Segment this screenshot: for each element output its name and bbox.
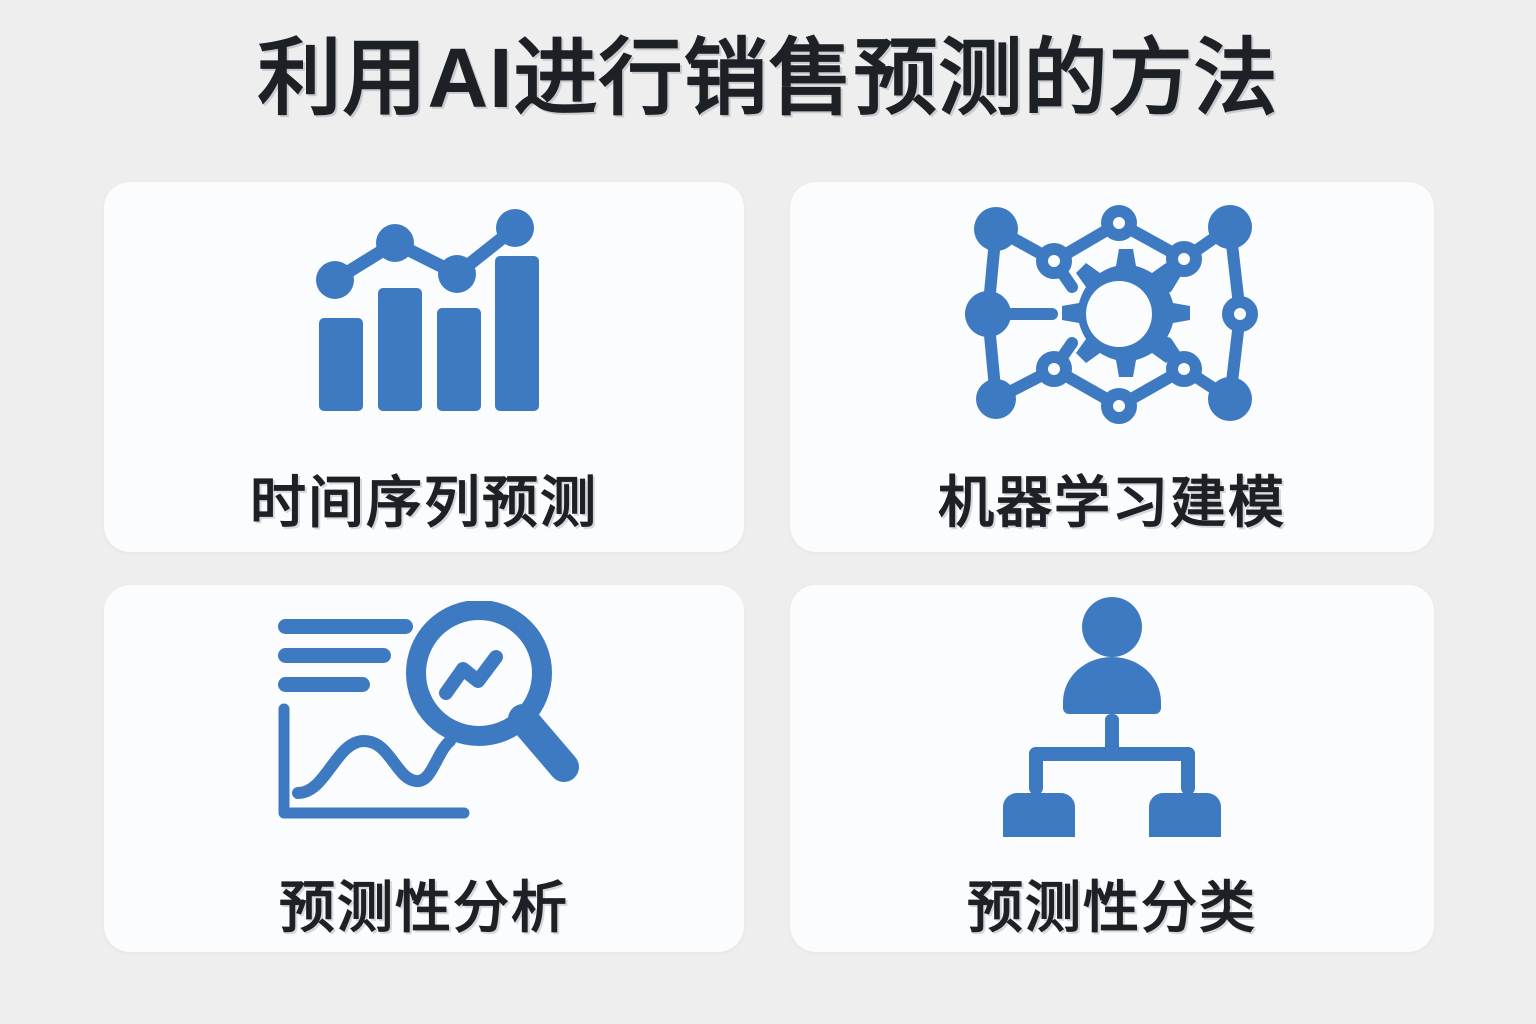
page-title: 利用AI进行销售预测的方法 xyxy=(0,30,1536,127)
card-machine-learning-modeling[interactable]: 机器学习建模 xyxy=(790,182,1434,552)
card-label-time-series-forecasting: 时间序列预测 xyxy=(250,458,598,539)
neural-network-gear-icon xyxy=(790,196,1434,432)
card-predictive-analytics[interactable]: 预测性分析 xyxy=(104,585,744,952)
card-grid: 时间序列预测 xyxy=(104,182,1434,952)
card-label-predictive-analytics: 预测性分析 xyxy=(279,863,569,944)
infographic-page: 利用AI进行销售预测的方法 xyxy=(0,0,1536,1024)
magnifier-chart-icon xyxy=(104,593,744,841)
org-hierarchy-icon xyxy=(790,593,1434,841)
card-time-series-forecasting[interactable]: 时间序列预测 xyxy=(104,182,744,552)
card-label-machine-learning-modeling: 机器学习建模 xyxy=(938,458,1286,539)
card-predictive-classification[interactable]: 预测性分类 xyxy=(790,585,1434,952)
card-label-predictive-classification: 预测性分类 xyxy=(967,863,1257,944)
bar-chart-trend-icon xyxy=(104,196,744,432)
